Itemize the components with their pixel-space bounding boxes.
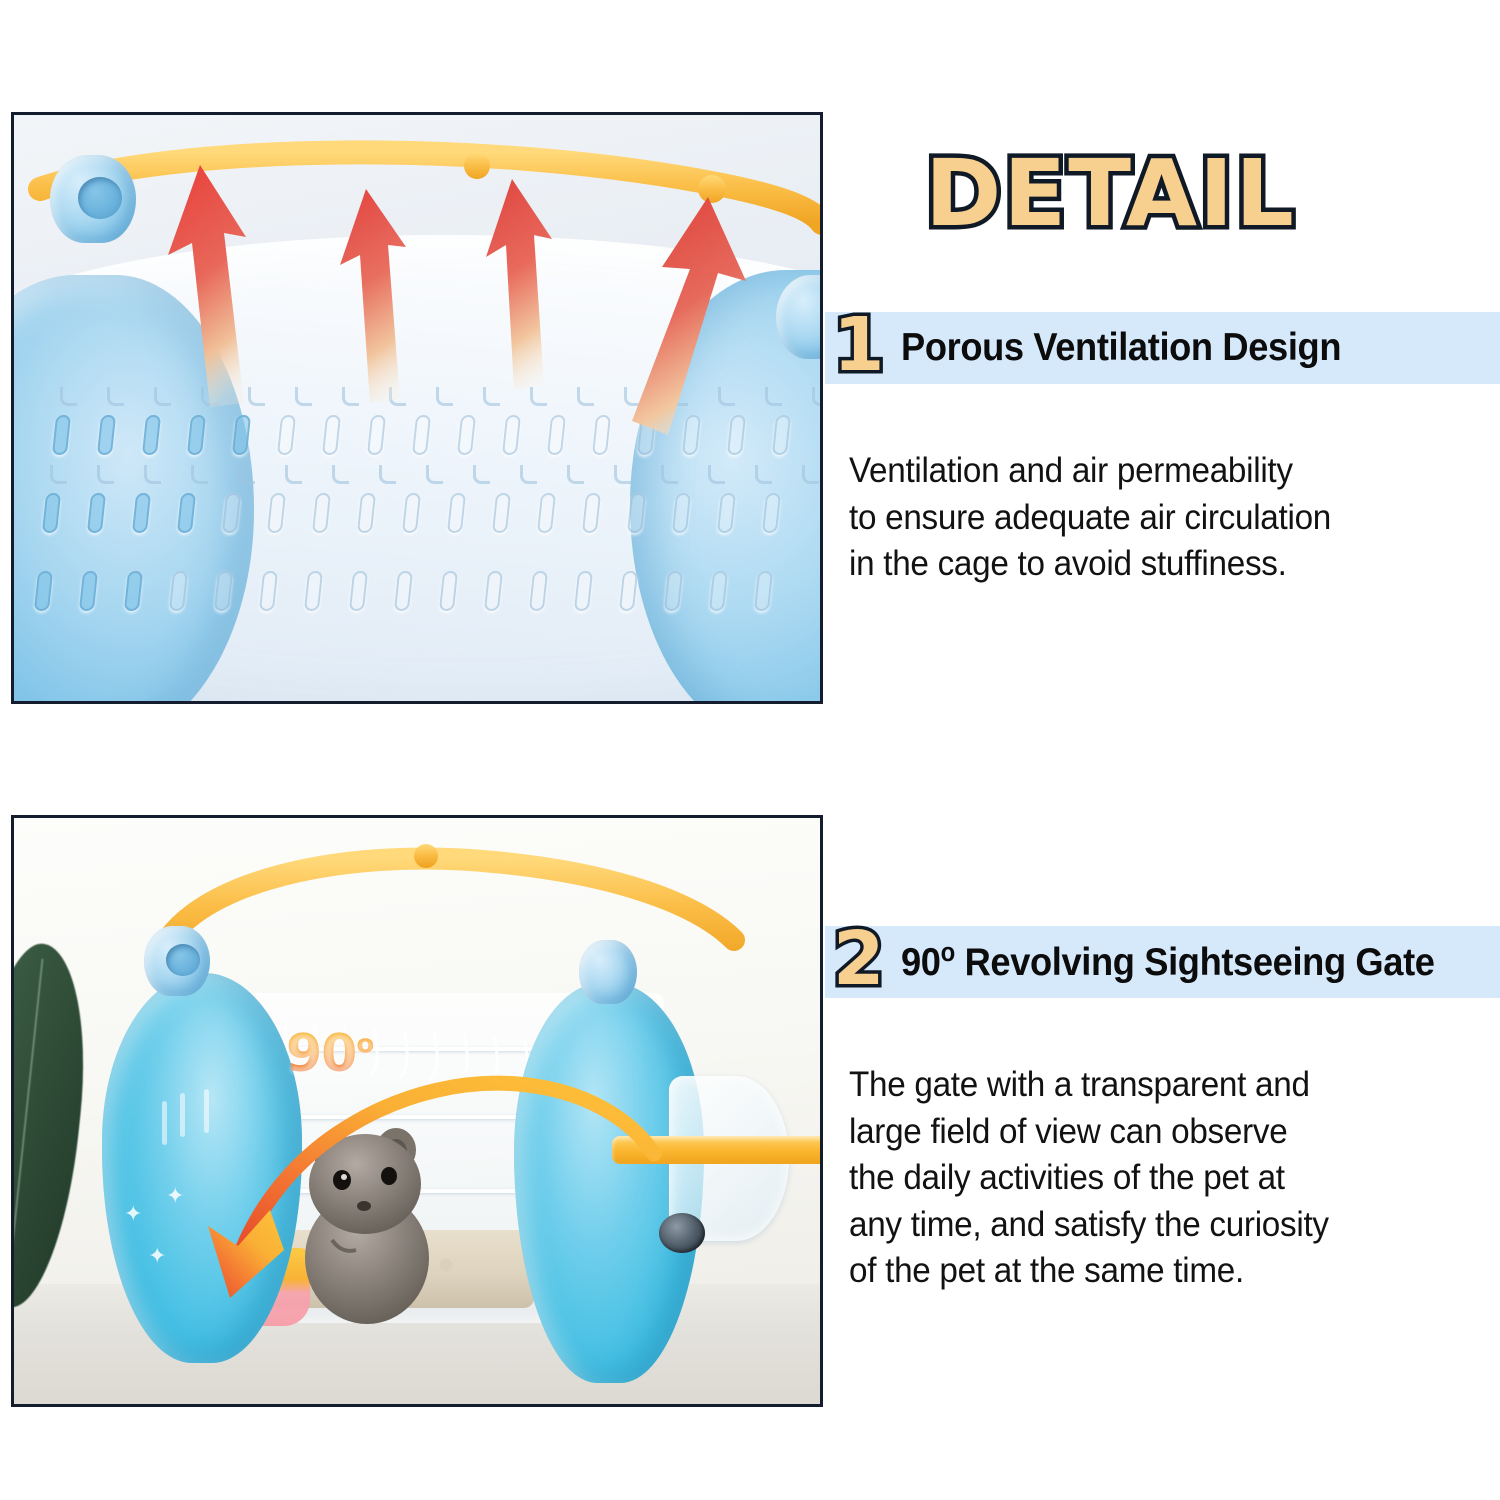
handle-pivot-hole-left [78,177,122,219]
page-title: DETAIL [925,148,1296,240]
content-column: DETAIL 1 Porous Ventilation Design Venti… [825,0,1500,1500]
airflow-arrow-3 [464,173,594,403]
rotation-arrow-90deg [134,958,694,1338]
ventilation-photo-panel [11,112,823,704]
carry-handle [134,838,754,978]
vent-slot-row [44,493,779,533]
section-2-title: 90o Revolving Sightseeing Gate [901,939,1435,985]
angle-label-90: 90o [286,1024,373,1084]
section-2-body: The gate with a transparent and large fi… [849,1062,1465,1295]
section-1-body: Ventilation and air permeability to ensu… [849,448,1465,588]
section-2-title-degree-symbol: o [940,939,954,967]
section-1-header-band: 1 Porous Ventilation Design [825,312,1500,384]
infographic-page: ✦ ✦ ✦ [0,0,1500,1500]
ventilation-photo [14,115,820,701]
section-1-number: 1 [833,308,885,382]
section-2-header-band: 2 90o Revolving Sightseeing Gate [825,926,1500,998]
section-2-title-angle: 90 [901,941,941,984]
airflow-arrow-4 [586,195,766,445]
section-1-title: Porous Ventilation Design [901,326,1341,370]
gate-photo-panel: ✦ ✦ ✦ [11,815,823,1407]
section-2-number: 2 [833,922,885,996]
vent-slot-row [36,571,771,611]
vent-hook-row [50,465,819,484]
airflow-arrow-1 [126,163,296,413]
section-2-title-rest: Revolving Sightseeing Gate [954,941,1434,984]
gate-photo: ✦ ✦ ✦ [14,818,820,1404]
airflow-arrow-2 [314,185,444,415]
